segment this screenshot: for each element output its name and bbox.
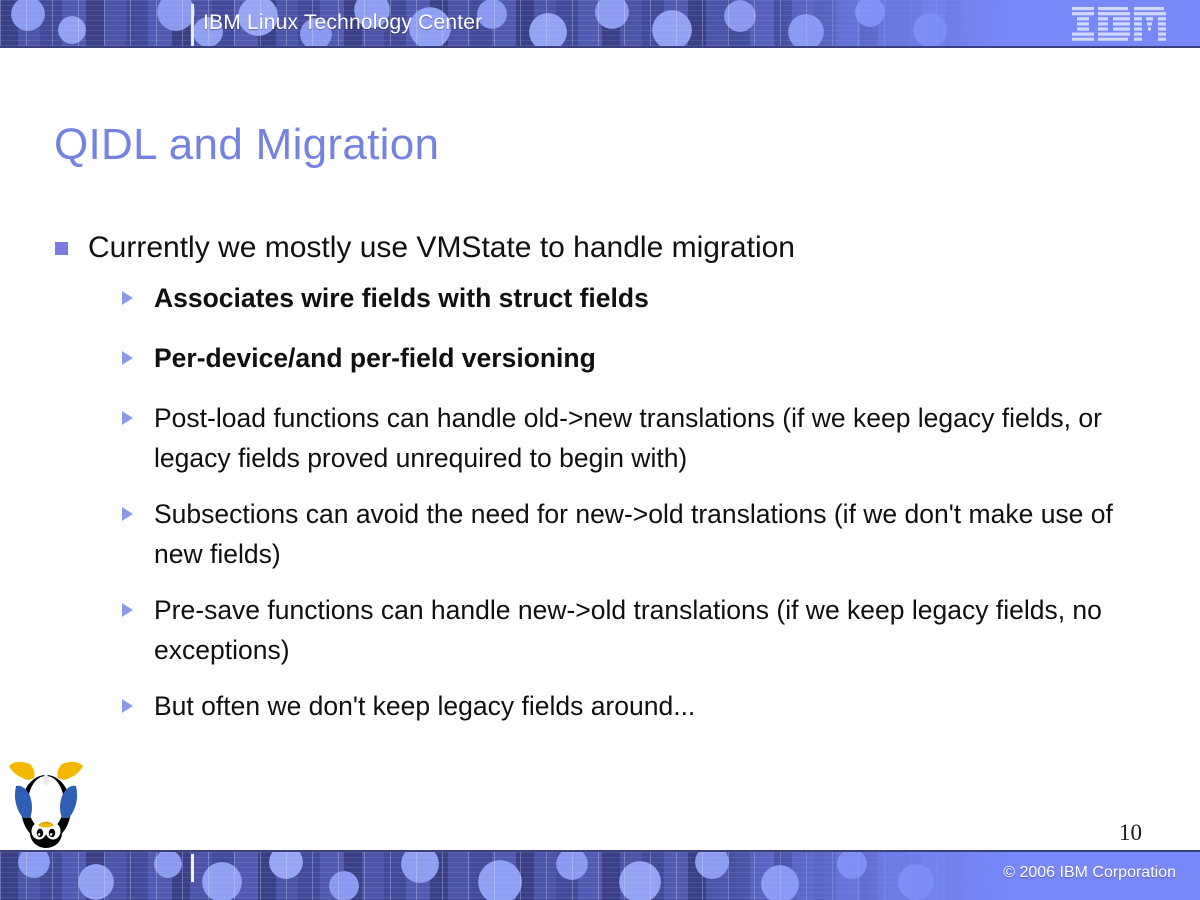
bullet-level2: Per-device/and per-field versioning — [50, 338, 1160, 378]
triangle-bullet-icon — [122, 291, 133, 305]
bullet-level2: Associates wire fields with struct field… — [50, 278, 1160, 318]
triangle-bullet-icon — [122, 507, 133, 521]
bullet-label: Associates wire fields with struct field… — [154, 278, 1160, 318]
triangle-bullet-icon — [122, 603, 133, 617]
bullet-level2: Subsections can avoid the need for new->… — [50, 494, 1160, 574]
slide-footer: © 2006 IBM Corporation — [0, 850, 1200, 900]
bullet-label: Post-load functions can handle old->new … — [154, 398, 1160, 478]
bullet-label: Currently we mostly use VMState to handl… — [88, 228, 1160, 268]
bullet-label: But often we don't keep legacy fields ar… — [154, 686, 1160, 726]
slide-header: IBM Linux Technology Center — [0, 0, 1200, 48]
ibm-logo-icon — [1072, 7, 1178, 41]
bullet-label: Subsections can avoid the need for new->… — [154, 494, 1160, 574]
copyright-label: © 2006 IBM Corporation — [1003, 864, 1176, 882]
slide-canvas: IBM Linux Technology Center — [0, 0, 1200, 900]
footer-decoration-pattern — [0, 852, 1010, 900]
sub-bullet-list: Associates wire fields with struct field… — [50, 278, 1160, 726]
triangle-bullet-icon — [122, 699, 133, 713]
header-underline — [0, 46, 1200, 48]
page-title: QIDL and Migration — [54, 120, 439, 170]
square-bullet-icon — [55, 242, 68, 255]
header-divider — [191, 4, 194, 46]
header-decoration-pattern — [0, 0, 1010, 48]
page-number: 10 — [1119, 820, 1142, 846]
bullet-level2: Pre-save functions can handle new->old t… — [50, 590, 1160, 670]
bullet-level2: Post-load functions can handle old->new … — [50, 398, 1160, 478]
footer-divider — [191, 854, 194, 882]
header-title: IBM Linux Technology Center — [203, 11, 482, 35]
bullet-level2: But often we don't keep legacy fields ar… — [50, 686, 1160, 726]
triangle-bullet-icon — [122, 351, 133, 365]
tux-penguin-icon — [6, 752, 86, 848]
bullet-label: Per-device/and per-field versioning — [154, 338, 1160, 378]
slide-body: Currently we mostly use VMState to handl… — [50, 228, 1160, 742]
bullet-level1: Currently we mostly use VMState to handl… — [50, 228, 1160, 268]
bullet-label: Pre-save functions can handle new->old t… — [154, 590, 1160, 670]
triangle-bullet-icon — [122, 411, 133, 425]
